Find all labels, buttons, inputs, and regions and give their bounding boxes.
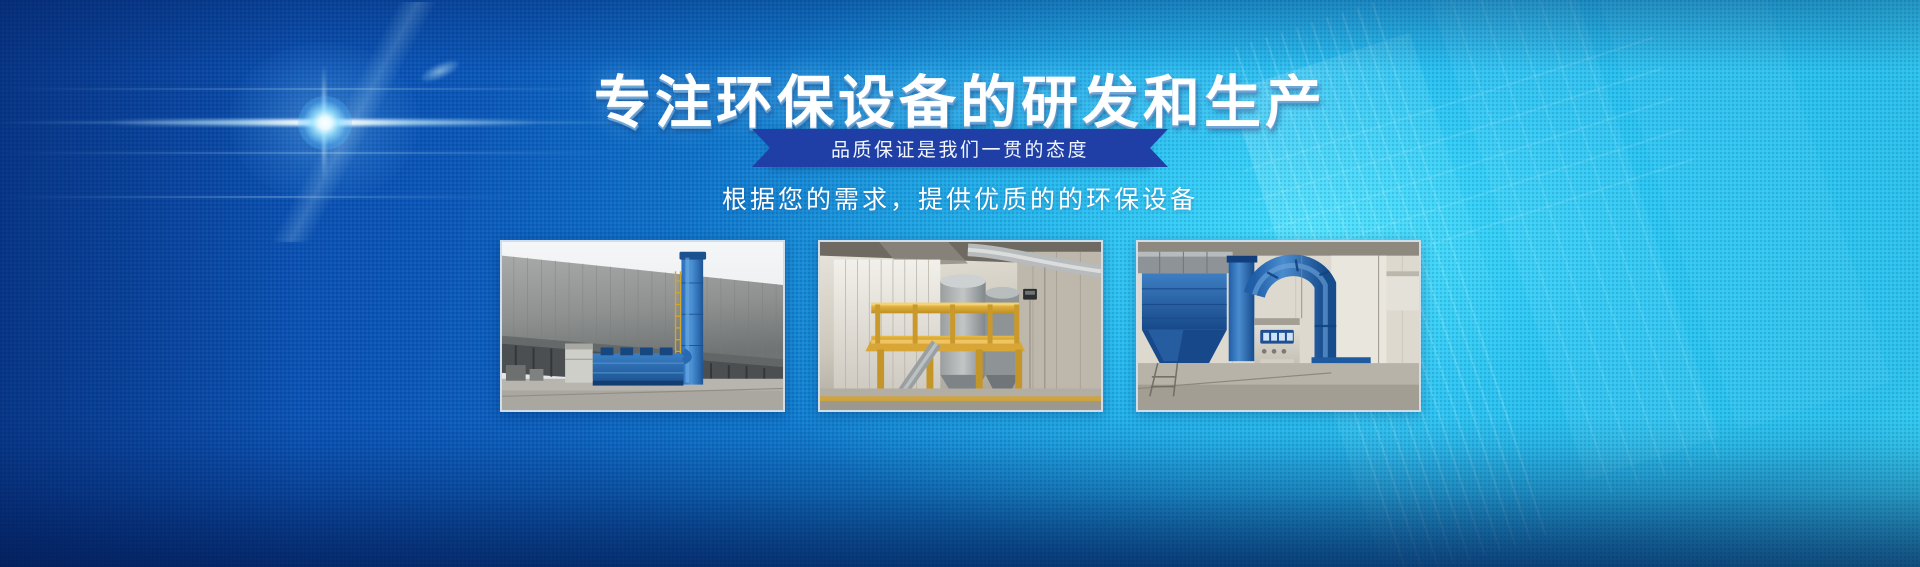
bottom-gradient [0, 445, 1920, 567]
page-title: 专注环保设备的研发和生产 [0, 57, 1920, 139]
ribbon-notch-right [1150, 129, 1168, 167]
photo-strip [0, 240, 1920, 412]
hero-banner: 专注环保设备的研发和生产 品质保证是我们一贯的态度 根据您的需求，提供优质的的环… [0, 0, 1920, 567]
ribbon-label: 品质保证是我们一贯的态度 [831, 135, 1089, 162]
photo-blue-ducting-equipment [1136, 240, 1421, 412]
ribbon-notch-left [752, 129, 770, 167]
photo-warehouse-dust-collector [500, 240, 785, 412]
photo-workshop-platform [818, 240, 1103, 412]
tagline: 根据您的需求，提供优质的的环保设备 [0, 180, 1920, 216]
ribbon-banner: 品质保证是我们一贯的态度 [0, 128, 1920, 168]
